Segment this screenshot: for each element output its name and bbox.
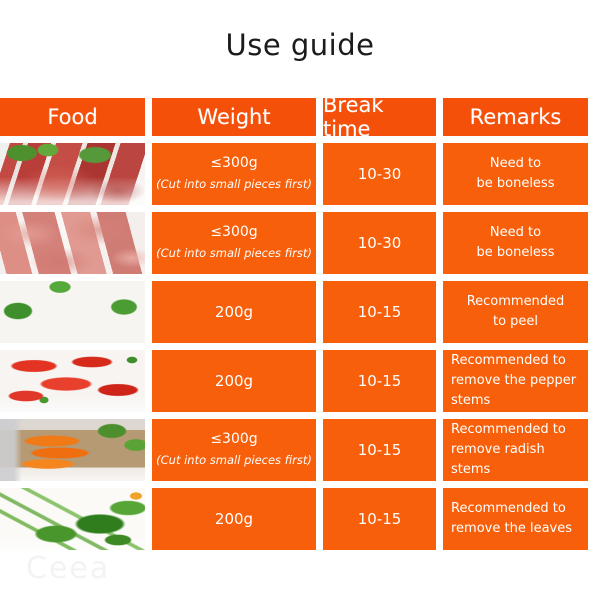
use-guide-table: Food Weight Break time Remarks ≤300g (Cu…	[0, 98, 600, 557]
watermark-text: Ceea	[26, 551, 110, 586]
remarks-line: Recommended to	[451, 499, 580, 519]
food-cell	[0, 488, 145, 550]
weight-cell: 200g	[152, 350, 316, 412]
weight-value: ≤300g	[210, 222, 257, 243]
break-time-cell: 10-30	[323, 212, 436, 274]
garlic-photo	[0, 281, 145, 343]
remarks-line: remove the pepper	[451, 371, 580, 391]
remarks-line: Recommended to	[451, 351, 580, 371]
remarks-cell: Need to be boneless	[443, 212, 588, 274]
break-time-cell: 10-15	[323, 419, 436, 481]
page-title: Use guide	[0, 28, 600, 62]
column-header-remarks: Remarks	[443, 98, 588, 136]
weight-cell: ≤300g (Cut into small pieces first)	[152, 212, 316, 274]
red-pepper-photo	[0, 350, 145, 412]
break-time-cell: 10-15	[323, 488, 436, 550]
weight-note: (Cut into small pieces first)	[156, 174, 312, 195]
remarks-cell: Recommended to remove radish stems	[443, 419, 588, 481]
table-row: 200g 10-15 Recommended to remove the lea…	[0, 488, 600, 550]
remarks-cell: Need to be boneless	[443, 143, 588, 205]
food-cell	[0, 212, 145, 274]
remarks-line: remove radish	[451, 440, 580, 460]
column-header-food: Food	[0, 98, 145, 136]
weight-value: ≤300g	[210, 153, 257, 174]
column-header-weight: Weight	[152, 98, 316, 136]
table-header-row: Food Weight Break time Remarks	[0, 98, 600, 136]
break-time-cell: 10-15	[323, 350, 436, 412]
break-time-cell: 10-30	[323, 143, 436, 205]
raw-beef-photo	[0, 143, 145, 205]
column-header-break-time: Break time	[323, 98, 436, 136]
table-row: ≤300g (Cut into small pieces first) 10-3…	[0, 143, 600, 205]
food-cell	[0, 419, 145, 481]
carrot-photo	[0, 419, 145, 481]
food-cell	[0, 143, 145, 205]
remarks-line: Need to	[451, 223, 580, 243]
break-time-cell: 10-15	[323, 281, 436, 343]
remarks-line: to peel	[451, 312, 580, 332]
weight-cell: 200g	[152, 488, 316, 550]
pork-slices-photo	[0, 212, 145, 274]
remarks-line: remove the leaves	[451, 519, 580, 539]
weight-value: 200g	[215, 302, 253, 323]
food-cell	[0, 281, 145, 343]
weight-value: 200g	[215, 371, 253, 392]
table-row: 200g 10-15 Recommended to peel	[0, 281, 600, 343]
weight-note: (Cut into small pieces first)	[156, 450, 312, 471]
remarks-line: be boneless	[451, 243, 580, 263]
remarks-line: Recommended to	[451, 420, 580, 440]
remarks-cell: Recommended to remove the pepper stems	[443, 350, 588, 412]
table-row: 200g 10-15 Recommended to remove the pep…	[0, 350, 600, 412]
weight-value: ≤300g	[210, 429, 257, 450]
weight-value: 200g	[215, 509, 253, 530]
remarks-cell: Recommended to remove the leaves	[443, 488, 588, 550]
celery-greens-photo	[0, 488, 145, 550]
remarks-line: stems	[451, 460, 580, 480]
remarks-cell: Recommended to peel	[443, 281, 588, 343]
weight-cell: ≤300g (Cut into small pieces first)	[152, 419, 316, 481]
weight-cell: ≤300g (Cut into small pieces first)	[152, 143, 316, 205]
table-row: ≤300g (Cut into small pieces first) 10-3…	[0, 212, 600, 274]
table-row: ≤300g (Cut into small pieces first) 10-1…	[0, 419, 600, 481]
weight-cell: 200g	[152, 281, 316, 343]
remarks-line: Recommended	[451, 292, 580, 312]
remarks-line: Need to	[451, 154, 580, 174]
remarks-line: stems	[451, 391, 580, 411]
food-cell	[0, 350, 145, 412]
remarks-line: be boneless	[451, 174, 580, 194]
weight-note: (Cut into small pieces first)	[156, 243, 312, 264]
